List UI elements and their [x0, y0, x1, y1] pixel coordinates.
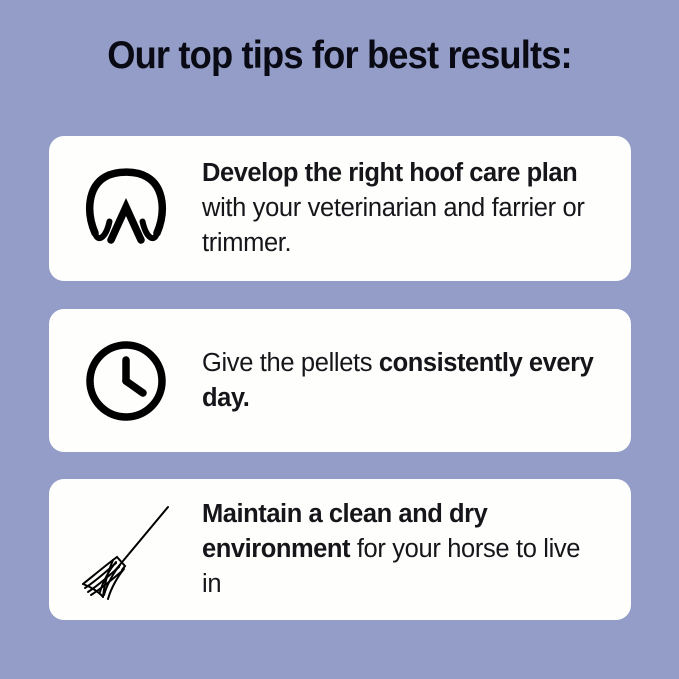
page-title: Our top tips for best results:	[24, 35, 655, 78]
horse-hoof-icon	[49, 136, 202, 281]
tip-card-text: Maintain a clean and dry environment for…	[202, 497, 631, 602]
tip-card-hoof-care: Develop the right hoof care plan with yo…	[49, 136, 631, 281]
tip-text-normal: with your veterinarian and farrier or tr…	[202, 194, 584, 257]
tips-card-list: Develop the right hoof care plan with yo…	[49, 136, 631, 620]
tip-card-clean-environment: Maintain a clean and dry environment for…	[49, 479, 631, 620]
rake-icon	[49, 479, 202, 620]
tip-card-consistency: Give the pellets consistently every day.	[49, 309, 631, 452]
tip-card-text: Develop the right hoof care plan with yo…	[202, 156, 631, 261]
tip-text-normal: Give the pellets	[202, 349, 379, 377]
tip-text-bold: Develop the right hoof care plan	[202, 159, 577, 187]
clock-icon	[49, 309, 202, 452]
tip-card-text: Give the pellets consistently every day.	[202, 346, 631, 416]
tips-infographic: Our top tips for best results: Develop t…	[0, 0, 679, 679]
